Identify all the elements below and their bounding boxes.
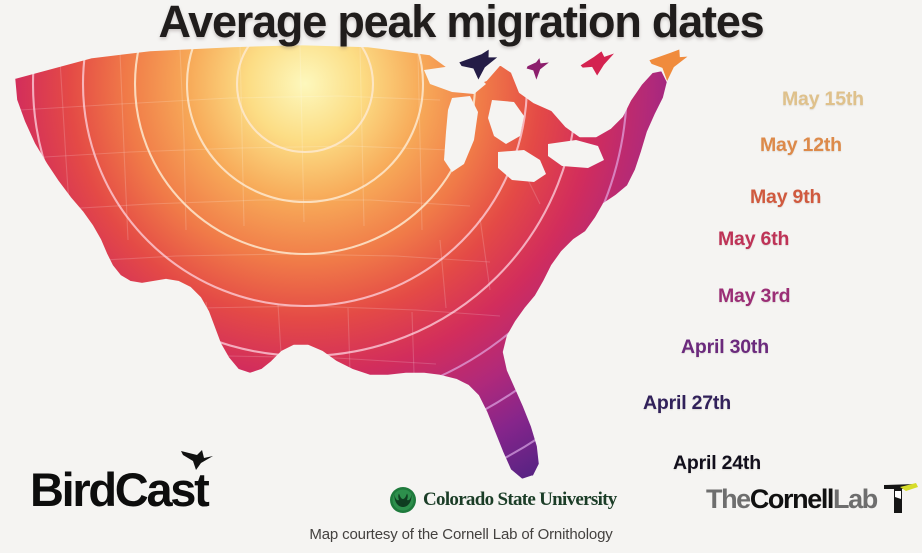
date-label-april-30th: April 30th — [681, 336, 769, 359]
birdcast-wordmark: BirdCast — [30, 466, 207, 513]
colorado-state-university-logo[interactable]: Colorado State University — [389, 486, 617, 514]
date-label-may-12th: May 12th — [760, 134, 842, 157]
date-label-april-27th: April 27th — [643, 392, 731, 415]
cornell-cornell-text: Cornell — [750, 484, 833, 515]
bird-silhouette-magenta — [524, 55, 559, 87]
map-gradient-fill — [0, 40, 700, 500]
cornell-the-text: The — [706, 484, 750, 515]
migration-map — [0, 40, 700, 500]
birdcast-logo[interactable]: BirdCast — [30, 466, 207, 513]
date-label-april-24th: April 24th — [673, 452, 761, 475]
page-title: Average peak migration dates — [0, 0, 922, 48]
cornell-bird-icon — [880, 479, 920, 515]
birdcast-migration-map-graphic: Average peak migration dates — [0, 0, 922, 553]
date-label-may-3rd: May 3rd — [718, 285, 790, 308]
map-svg — [0, 40, 700, 500]
csu-wordmark: Colorado State University — [423, 489, 617, 511]
map-credit-caption: Map courtesy of the Cornell Lab of Ornit… — [0, 526, 922, 543]
bird-silhouette-icon — [180, 449, 214, 471]
cornell-lab-logo[interactable]: The Cornell Lab — [706, 484, 920, 515]
cornell-lab-text: Lab — [833, 484, 877, 515]
bird-silhouette-orange — [647, 49, 691, 85]
bird-silhouette-navy — [456, 48, 501, 86]
csu-ram-icon — [389, 486, 417, 514]
date-label-may-15th: May 15th — [782, 88, 864, 111]
date-label-may-6th: May 6th — [718, 228, 789, 251]
date-label-may-9th: May 9th — [750, 186, 821, 209]
